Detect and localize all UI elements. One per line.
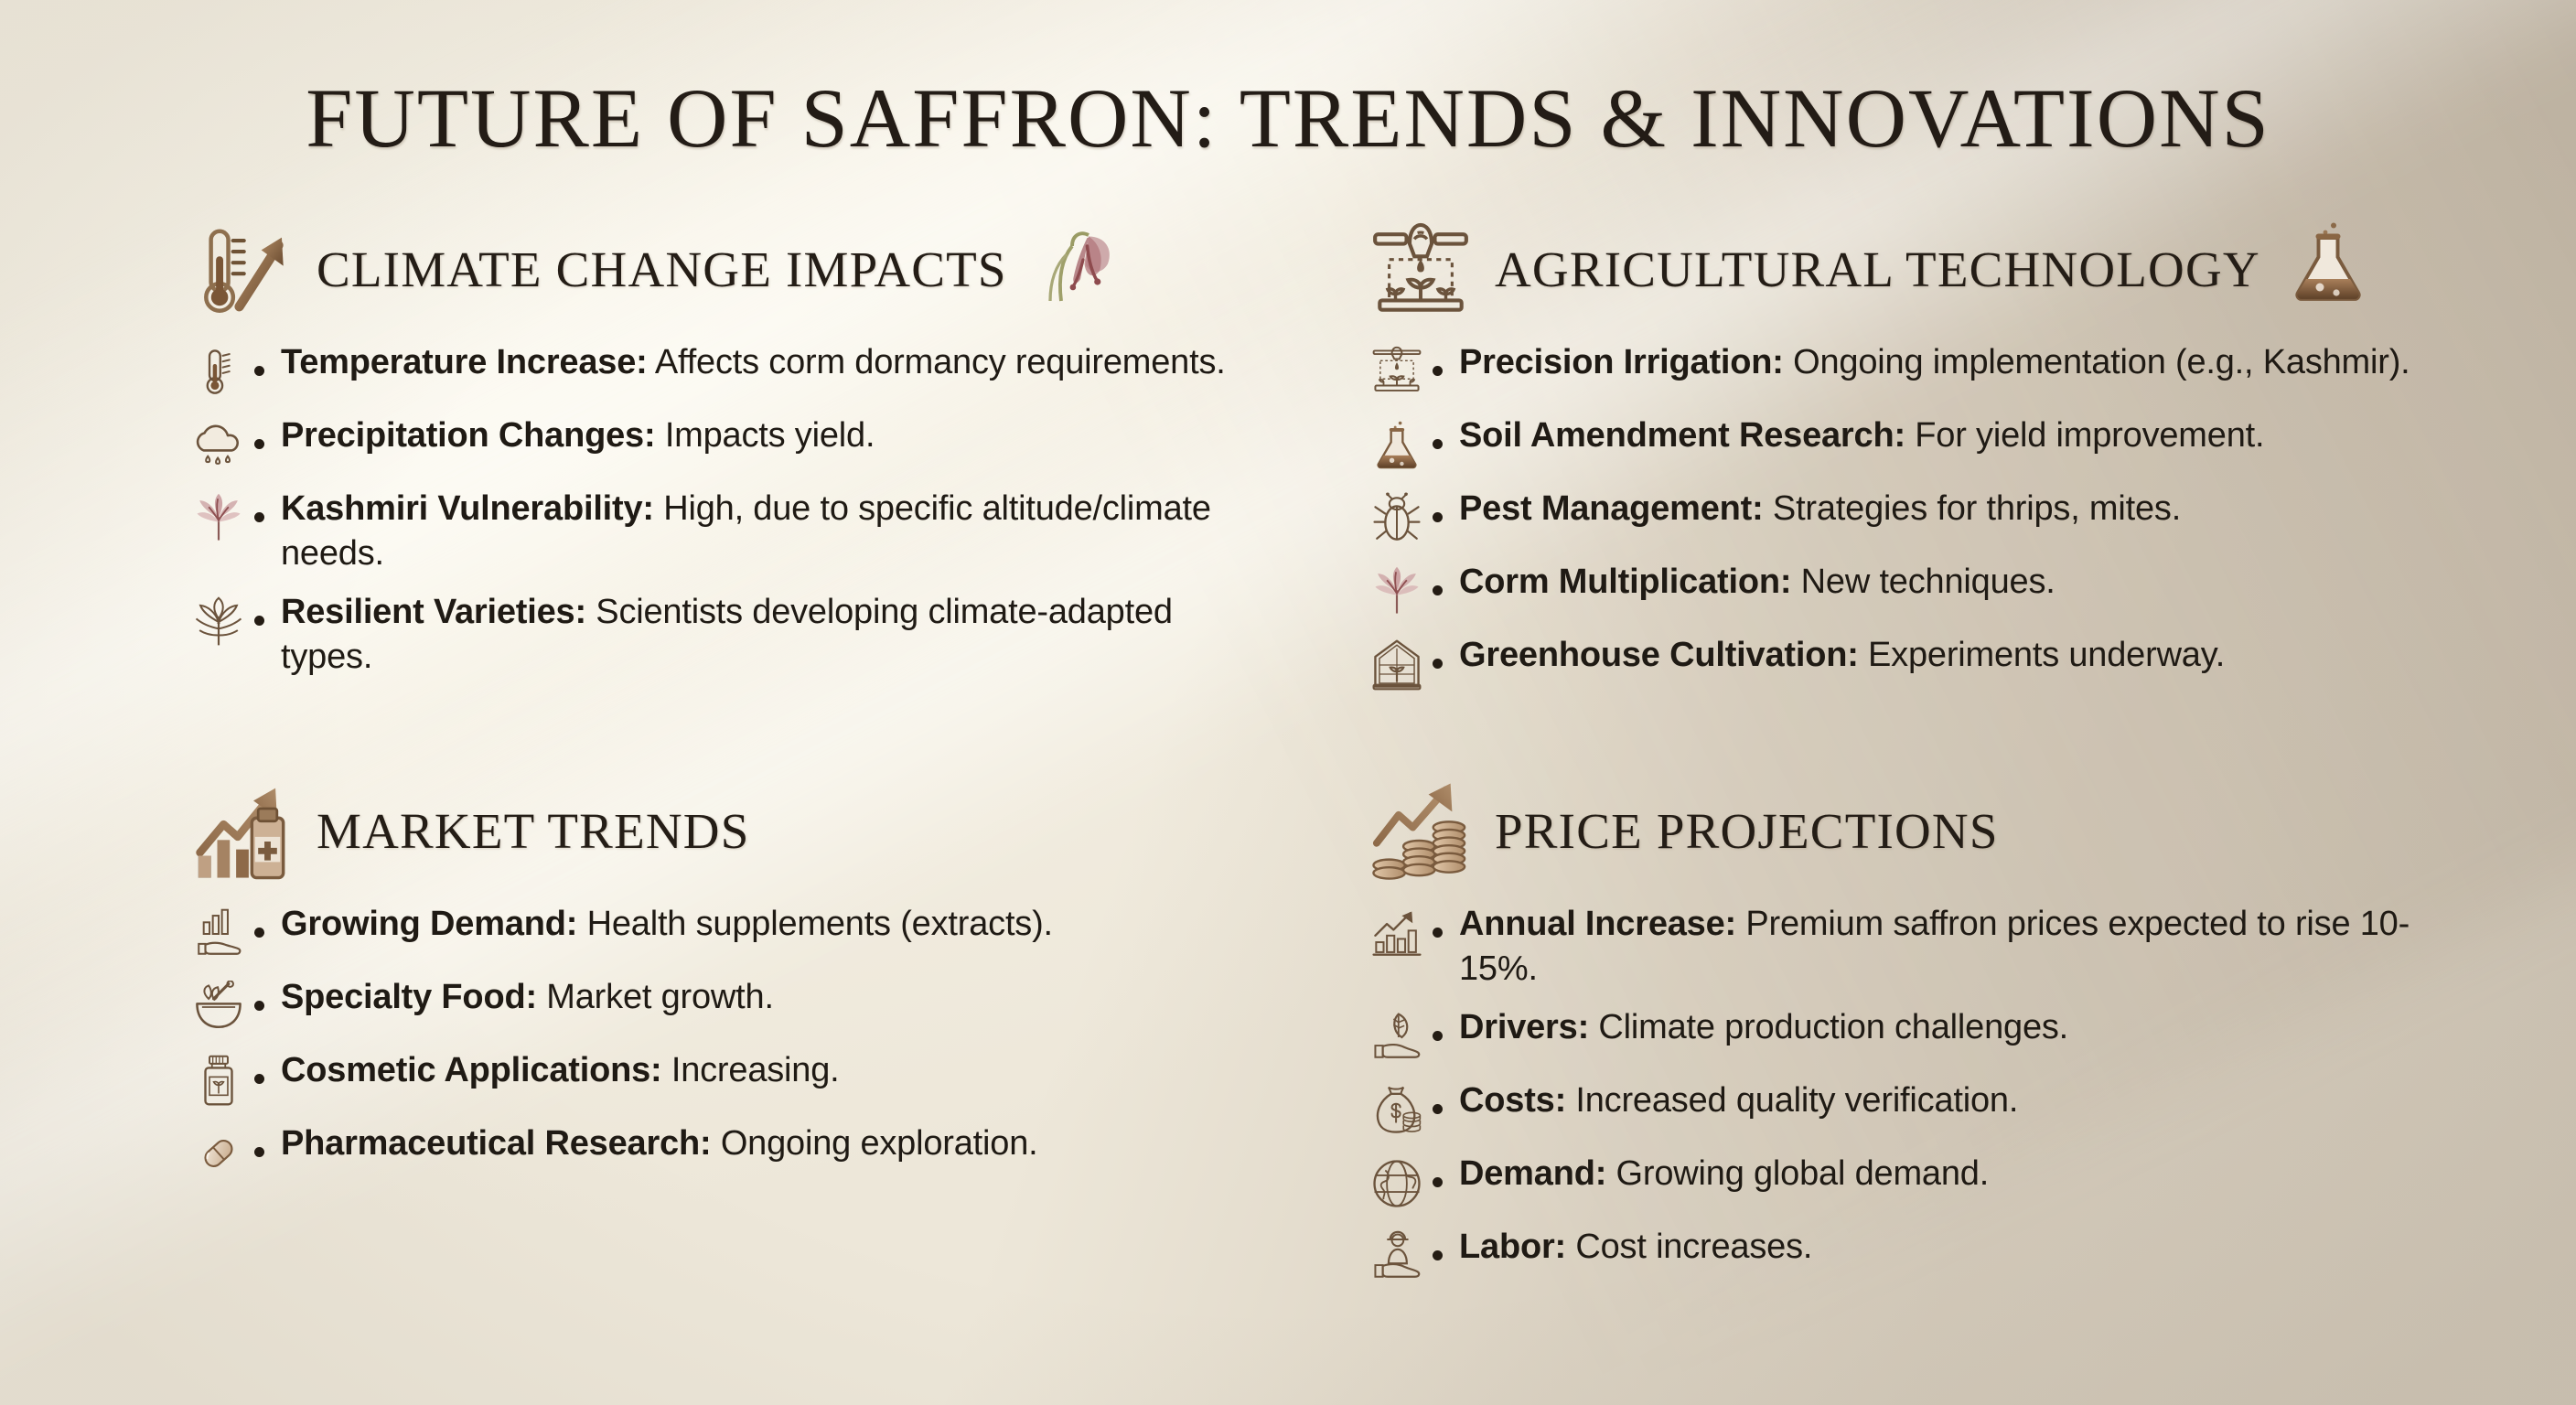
list-item: Temperature Increase: Affects corm dorma…	[192, 340, 1334, 399]
bullet-dot	[254, 512, 264, 522]
cosmetic-bottle-icon	[192, 1054, 245, 1107]
list-item: Corm Multiplication: New techniques.	[1370, 560, 2512, 618]
list-item-desc: Increasing.	[671, 1051, 840, 1089]
list-item-desc: Ongoing implementation (e.g., Kashmir).	[1793, 343, 2410, 381]
list-item-term: Cosmetic Applications:	[281, 1051, 661, 1089]
section-market-trends: MARKET TRENDSGrowing Demand: Health supp…	[192, 706, 1370, 1298]
list-item-term: Precipitation Changes:	[281, 416, 655, 455]
section-title: MARKET TRENDS	[317, 802, 750, 860]
flask-icon	[1370, 419, 1423, 472]
list-item-term: Costs:	[1459, 1081, 1566, 1120]
list-item-text: Precision Irrigation: Ongoing implementa…	[1459, 340, 2410, 385]
bullet-dot	[254, 1147, 264, 1157]
infographic-poster: FUTURE OF SAFFRON: TRENDS & INNOVATIONS …	[0, 0, 2576, 1405]
list-item-term: Demand:	[1459, 1154, 1606, 1193]
list-item-desc: New techniques.	[1801, 563, 2055, 601]
bullet-dot	[254, 1074, 264, 1084]
hand-chart-icon	[192, 907, 245, 960]
mortar-pestle-icon	[192, 981, 245, 1034]
list-item-desc: Health supplements (extracts).	[587, 905, 1053, 943]
list-item-term: Corm Multiplication:	[1459, 563, 1791, 601]
list-item-term: Annual Increase:	[1459, 905, 1736, 943]
list-item: Resilient Varieties: Scientists developi…	[192, 590, 1334, 679]
list-item-desc: Affects corm dormancy requirements.	[655, 343, 1226, 381]
list-item: Pharmaceutical Research: Ongoing explora…	[192, 1121, 1334, 1180]
list-item-term: Drivers:	[1459, 1008, 1589, 1046]
list-item: Cosmetic Applications: Increasing.	[192, 1048, 1334, 1107]
bullet-dot	[1433, 1177, 1443, 1187]
flask-icon	[2284, 219, 2372, 319]
list-item: Demand: Growing global demand.	[1370, 1152, 2512, 1210]
bullet-dot	[254, 928, 264, 938]
list-item-term: Pharmaceutical Research:	[281, 1124, 711, 1163]
section-agricultural-technology: AGRICULTURAL TECHNOLOGYPrecision Irrigat…	[1370, 214, 2549, 706]
list-item-text: Growing Demand: Health supplements (extr…	[281, 902, 1053, 947]
bullet-dot	[1433, 585, 1443, 595]
sections-grid: CLIMATE CHANGE IMPACTSTemperature Increa…	[0, 166, 2576, 1298]
list-item-term: Labor:	[1459, 1228, 1566, 1266]
list-item: Greenhouse Cultivation: Experiments unde…	[1370, 633, 2512, 692]
bullet-dot	[254, 616, 264, 626]
list-item-text: Temperature Increase: Affects corm dorma…	[281, 340, 1226, 385]
bullet-dot	[1433, 439, 1443, 449]
section-title: CLIMATE CHANGE IMPACTS	[317, 241, 1007, 298]
list-item: Specialty Food: Market growth.	[192, 975, 1334, 1034]
list-item-desc: Climate production challenges.	[1598, 1008, 2068, 1046]
list-item: Precision Irrigation: Ongoing implementa…	[1370, 340, 2512, 399]
bullet-dot	[1433, 1250, 1443, 1260]
section-climate-change-impacts: CLIMATE CHANGE IMPACTSTemperature Increa…	[192, 214, 1370, 706]
list-item-term: Temperature Increase:	[281, 343, 648, 381]
bullet-list-price-projections: Annual Increase: Premium saffron prices …	[1370, 902, 2512, 1283]
list-item-text: Annual Increase: Premium saffron prices …	[1459, 902, 2429, 991]
list-item-term: Growing Demand:	[281, 905, 577, 943]
list-item: Growing Demand: Health supplements (extr…	[192, 902, 1334, 960]
beetle-icon	[1370, 492, 1423, 545]
saffron-flower-icon	[1031, 219, 1119, 319]
list-item-text: Kashmiri Vulnerability: High, due to spe…	[281, 487, 1250, 575]
list-item-text: Drivers: Climate production challenges.	[1459, 1005, 2068, 1050]
list-item-desc: Ongoing exploration.	[721, 1124, 1038, 1163]
list-item-desc: Strategies for thrips, mites.	[1773, 489, 2181, 528]
page-title: FUTURE OF SAFFRON: TRENDS & INNOVATIONS	[0, 0, 2576, 166]
list-item-desc: Market growth.	[546, 978, 774, 1016]
greenhouse-icon	[1370, 638, 1423, 692]
list-item: Annual Increase: Premium saffron prices …	[1370, 902, 2512, 991]
money-bag-icon	[1370, 1084, 1423, 1137]
thermometer-icon	[192, 346, 245, 399]
saffron-sprout-icon	[192, 595, 245, 649]
section-title: PRICE PROJECTIONS	[1495, 802, 1999, 860]
pill-capsule-icon	[192, 1127, 245, 1180]
list-item-desc: Cost increases.	[1575, 1228, 1812, 1266]
list-item-desc: For yield improvement.	[1915, 416, 2264, 455]
list-item-desc: Increased quality verification.	[1575, 1081, 2018, 1120]
list-item: Pest Management: Strategies for thrips, …	[1370, 487, 2512, 545]
bullet-dot	[1433, 366, 1443, 376]
list-item-text: Soil Amendment Research: For yield impro…	[1459, 413, 2264, 458]
list-item-text: Greenhouse Cultivation: Experiments unde…	[1459, 633, 2225, 678]
coin-stacks-arrow-icon	[1370, 780, 1471, 881]
section-heading-agricultural-technology: AGRICULTURAL TECHNOLOGY	[1370, 214, 2512, 324]
list-item: Drivers: Climate production challenges.	[1370, 1005, 2512, 1064]
hand-worker-icon	[1370, 1230, 1423, 1283]
bullet-list-agricultural-technology: Precision Irrigation: Ongoing implementa…	[1370, 340, 2512, 692]
list-item-term: Soil Amendment Research:	[1459, 416, 1905, 455]
list-item-desc: Growing global demand.	[1616, 1154, 1990, 1193]
list-item-term: Pest Management:	[1459, 489, 1764, 528]
bullet-dot	[1433, 659, 1443, 669]
saffron-bloom-icon	[1370, 565, 1423, 618]
list-item-text: Costs: Increased quality verification.	[1459, 1078, 2018, 1123]
list-item-text: Pharmaceutical Research: Ongoing explora…	[281, 1121, 1038, 1166]
list-item: Precipitation Changes: Impacts yield.	[192, 413, 1334, 472]
section-title: AGRICULTURAL TECHNOLOGY	[1495, 241, 2260, 298]
bullet-dot	[1433, 928, 1443, 938]
globe-icon	[1370, 1157, 1423, 1210]
list-item-text: Corm Multiplication: New techniques.	[1459, 560, 2055, 605]
list-item-term: Kashmiri Vulnerability:	[281, 489, 654, 528]
list-item-term: Precision Irrigation:	[1459, 343, 1784, 381]
bullet-list-market-trends: Growing Demand: Health supplements (extr…	[192, 902, 1334, 1180]
list-item: Soil Amendment Research: For yield impro…	[1370, 413, 2512, 472]
list-item-text: Precipitation Changes: Impacts yield.	[281, 413, 875, 458]
list-item-term: Resilient Varieties:	[281, 593, 586, 631]
drip-irrigation-icon	[1370, 346, 1423, 399]
bullet-dot	[254, 439, 264, 449]
saffron-bloom-icon	[192, 492, 245, 545]
bullet-dot	[1433, 1031, 1443, 1041]
list-item-text: Cosmetic Applications: Increasing.	[281, 1048, 840, 1093]
section-heading-market-trends: MARKET TRENDS	[192, 776, 1334, 885]
list-item-text: Labor: Cost increases.	[1459, 1225, 1812, 1270]
growth-chart-supplement-icon	[192, 780, 293, 881]
smart-irrigation-icon	[1370, 219, 1471, 319]
list-item-desc: Experiments underway.	[1868, 636, 2225, 674]
bullet-list-climate-change-impacts: Temperature Increase: Affects corm dorma…	[192, 340, 1334, 680]
list-item-text: Specialty Food: Market growth.	[281, 975, 774, 1020]
list-item-desc: Impacts yield.	[665, 416, 875, 455]
bullet-dot	[254, 366, 264, 376]
section-heading-climate-change-impacts: CLIMATE CHANGE IMPACTS	[192, 214, 1334, 324]
bar-chart-arrow-icon	[1370, 907, 1423, 960]
list-item-text: Demand: Growing global demand.	[1459, 1152, 1989, 1196]
bullet-dot	[1433, 512, 1443, 522]
thermometer-rising-arrow-icon	[192, 219, 293, 319]
section-heading-price-projections: PRICE PROJECTIONS	[1370, 776, 2512, 885]
hand-leaf-icon	[1370, 1011, 1423, 1064]
bullet-dot	[254, 1001, 264, 1011]
section-price-projections: PRICE PROJECTIONSAnnual Increase: Premiu…	[1370, 706, 2549, 1298]
list-item: Labor: Cost increases.	[1370, 1225, 2512, 1283]
list-item-text: Pest Management: Strategies for thrips, …	[1459, 487, 2181, 531]
list-item: Costs: Increased quality verification.	[1370, 1078, 2512, 1137]
list-item-term: Specialty Food:	[281, 978, 537, 1016]
list-item: Kashmiri Vulnerability: High, due to spe…	[192, 487, 1334, 575]
list-item-text: Resilient Varieties: Scientists developi…	[281, 590, 1250, 679]
list-item-term: Greenhouse Cultivation:	[1459, 636, 1859, 674]
rain-cloud-icon	[192, 419, 245, 472]
bullet-dot	[1433, 1104, 1443, 1114]
